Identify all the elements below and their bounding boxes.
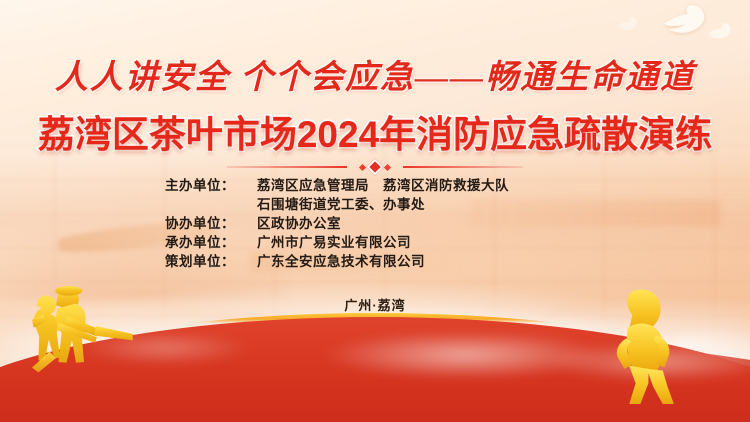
organizer-label: 主办单位： [165,176,257,195]
poster-canvas: 人人讲安全 个个会应急——畅通生命通道 荔湾区茶叶市场2024年消防应急疏散演练… [0,0,750,422]
organizer-row: 策划单位： 广东全安应急技术有限公司 [165,252,585,271]
firefighter-silhouette [8,278,136,386]
divider-diamond-center [367,159,384,176]
dove-icon [616,16,638,33]
organizer-row: 协办单位： 区政协办公室 [165,214,585,233]
organizer-value: 荔湾区应急管理局 荔湾区消防救援大队 [257,176,585,195]
organizer-label: 承办单位： [165,233,257,252]
organizer-label: 协办单位： [165,214,257,233]
organizer-row: 承办单位： 广州市广易实业有限公司 [165,233,585,252]
organizer-value: 区政协办公室 [257,214,585,233]
divider-diamond-small [359,163,366,170]
organizer-value: 广州市广易实业有限公司 [257,233,585,252]
organizer-row: 主办单位： 荔湾区应急管理局 荔湾区消防救援大队 [165,176,585,195]
organizer-row: 石围塘街道党工委、办事处 [165,195,585,214]
dove-icon [706,22,732,42]
divider-line-right [403,166,523,168]
organizer-list: 主办单位： 荔湾区应急管理局 荔湾区消防救援大队 石围塘街道党工委、办事处 协办… [0,176,750,271]
poster-tagline: 人人讲安全 个个会应急——畅通生命通道 [0,50,750,98]
organizer-value: 广东全安应急技术有限公司 [257,252,585,271]
organizer-value: 石围塘街道党工委、办事处 [257,195,585,214]
page-title: 荔湾区茶叶市场2024年消防应急疏散演练 [0,104,750,158]
divider-line-left [227,166,347,168]
divider-ornament [0,158,750,176]
running-person-silhouette [594,286,690,404]
dove-icon [662,4,706,38]
divider-diamond-small [384,163,391,170]
organizer-label: 策划单位： [165,252,257,271]
